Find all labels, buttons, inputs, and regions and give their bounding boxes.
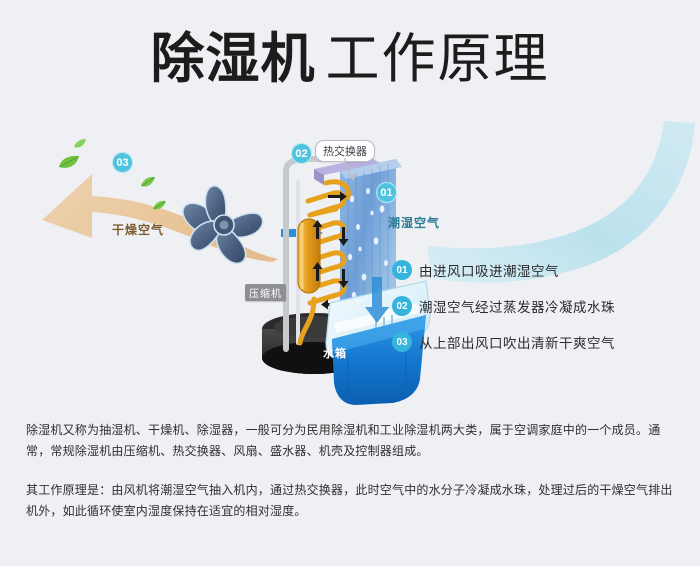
diagram-badge-01: 01 — [376, 182, 397, 203]
callout-pointer-icon — [343, 158, 357, 182]
step-badge-01: 01 — [392, 260, 412, 280]
list-item: 01 由进风口吸进潮湿空气 — [392, 252, 682, 288]
step-badge-02: 02 — [392, 296, 412, 316]
compressor-label: 压缩机 — [245, 284, 286, 301]
step-text-01: 由进风口吸进潮湿空气 — [419, 260, 559, 280]
leaf-icon — [152, 200, 167, 212]
steps-list: 01 由进风口吸进潮湿空气 02 潮湿空气经过蒸发器冷凝成水珠 03 从上部出风… — [392, 252, 682, 360]
list-item: 03 从上部出风口吹出清新干爽空气 — [392, 324, 682, 360]
page-title-bold: 除湿机 — [151, 29, 316, 89]
infographic-page: 除湿机工作原理 — [0, 0, 700, 566]
list-item: 02 潮湿空气经过蒸发器冷凝成水珠 — [392, 288, 682, 324]
page-title-light: 工作原理 — [326, 29, 550, 89]
paragraph-1: 除湿机又称为抽湿机、干燥机、除湿器，一般可分为民用除湿机和工业除湿机两大类，属于… — [26, 420, 676, 462]
step-text-03: 从上部出风口吹出清新干爽空气 — [419, 332, 615, 352]
body-copy: 除湿机又称为抽湿机、干燥机、除湿器，一般可分为民用除湿机和工业除湿机两大类，属于… — [26, 420, 676, 522]
leaf-icon — [140, 176, 156, 189]
leaf-icon — [74, 139, 87, 149]
water-tank-label: 水箱 — [323, 345, 347, 361]
dry-air-label: 干燥空气 — [112, 221, 164, 238]
step-badge-03: 03 — [392, 332, 412, 352]
page-title: 除湿机工作原理 — [0, 32, 700, 86]
diagram-badge-02: 02 — [291, 143, 312, 164]
paragraph-2: 其工作原理是：由风机将潮湿空气抽入机内，通过热交换器，此时空气中的水分子冷凝成水… — [26, 480, 676, 522]
humid-air-label: 潮湿空气 — [388, 214, 440, 231]
leaf-icon — [58, 155, 80, 171]
step-text-02: 潮湿空气经过蒸发器冷凝成水珠 — [419, 296, 615, 316]
diagram-badge-03: 03 — [112, 152, 133, 173]
